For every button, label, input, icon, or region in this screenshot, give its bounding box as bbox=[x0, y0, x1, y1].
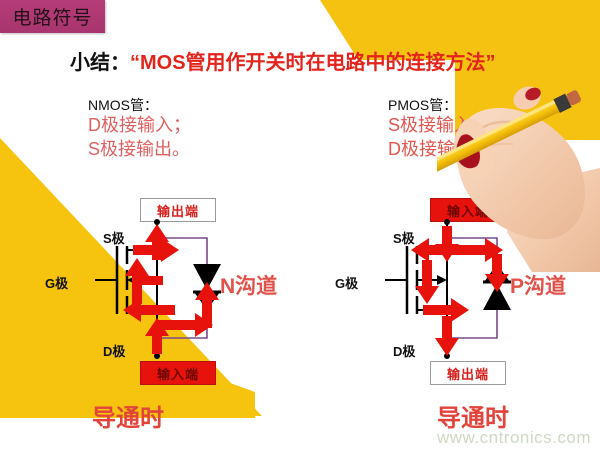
hand-with-pencil-illustration bbox=[437, 72, 600, 272]
nmos-description: NMOS管： D极接输入； S极接输出。 bbox=[88, 96, 191, 162]
page-title: 小结：“MOS管用作开关时在电路中的连接方法” bbox=[70, 46, 540, 74]
nmos-gate-label: G极 bbox=[45, 273, 68, 292]
section-badge: 电路符号 bbox=[0, 0, 105, 33]
page-title-prefix: 小结： bbox=[70, 52, 130, 74]
slide-canvas: 电路符号 小结：“MOS管用作开关时在电路中的连接方法” NMOS管： D极接输… bbox=[0, 0, 600, 451]
nmos-line-1: D极接输入； bbox=[88, 114, 191, 138]
watermark: www.cntronics.com bbox=[437, 428, 591, 448]
nmos-caption: 导通时 bbox=[92, 398, 164, 433]
nmos-line-2: S极接输出。 bbox=[88, 138, 191, 162]
pmos-gate-label: G极 bbox=[335, 273, 358, 292]
section-badge-label: 电路符号 bbox=[12, 3, 92, 30]
page-title-quoted: “MOS管用作开关时在电路中的连接方法” bbox=[130, 52, 496, 74]
nmos-symbol-svg bbox=[95, 198, 305, 398]
nmos-circuit-diagram: 输出端 输入端 S极 G极 D极 N沟道 bbox=[95, 198, 305, 398]
nmos-header: NMOS管： bbox=[88, 96, 191, 114]
